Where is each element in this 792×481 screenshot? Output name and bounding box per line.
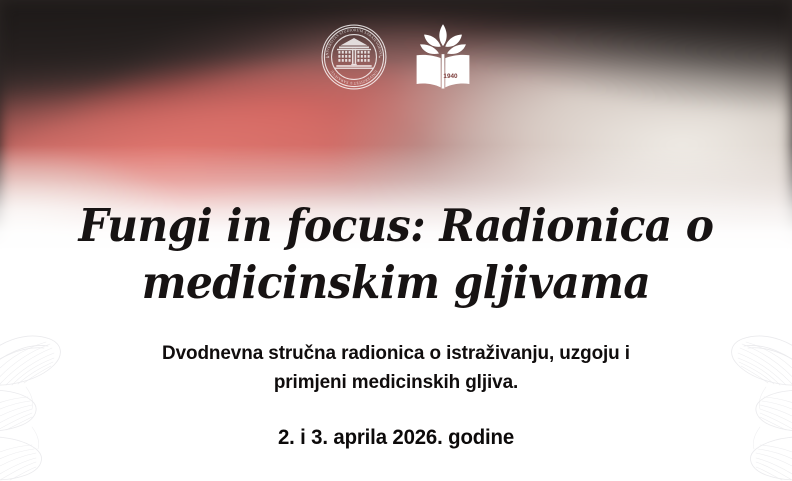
university-seal-icon: UNIVERSITAS STUDIORUM SARAJEVOENSIS UNIV… xyxy=(320,23,388,91)
logo-row: UNIVERSITAS STUDIORUM SARAJEVOENSIS UNIV… xyxy=(0,22,792,92)
page-title: Fungi in focus: Radionica o medicinskim … xyxy=(67,198,725,311)
book-logo-year: 1940 xyxy=(443,73,458,80)
poster-canvas: UNIVERSITAS STUDIORUM SARAJEVOENSIS UNIV… xyxy=(0,0,792,481)
poster-date: 2. i 3. aprila 2026. godine xyxy=(57,424,736,451)
poster-subtitle: Dvodnevna stručna radionica o istraživan… xyxy=(57,339,736,396)
poster-text-block: Fungi in focus: Radionica o medicinskim … xyxy=(0,198,792,451)
book-leaf-logo-icon: 1940 xyxy=(414,22,472,92)
